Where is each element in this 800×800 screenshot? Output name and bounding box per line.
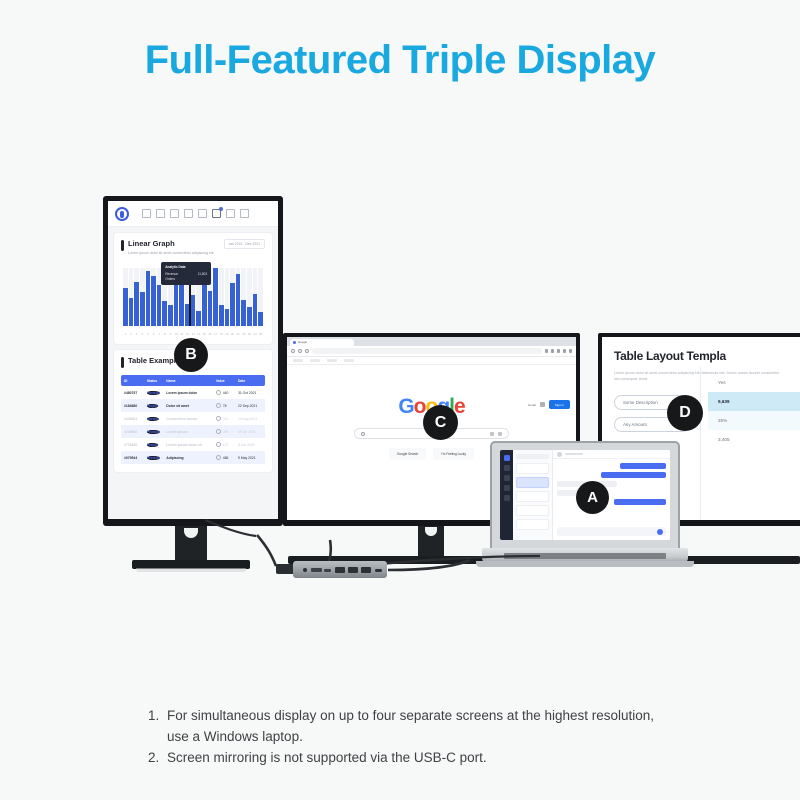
cell-value: 486: [213, 451, 235, 464]
cell-name: Adipiscing: [163, 451, 212, 464]
cell-value: 265: [213, 425, 235, 438]
example-table: IDStatusNameValueDate #480757ProductLore…: [121, 375, 265, 464]
link-icon[interactable]: [198, 209, 207, 218]
bar-column: [129, 268, 134, 326]
table-column-header: Date: [235, 375, 265, 386]
x-tick-label: 14: [196, 332, 201, 336]
feeling-lucky-button[interactable]: I'm Feeling Lucky: [433, 448, 474, 460]
x-tick-label: 21: [236, 332, 241, 336]
x-tick-label: 3: [134, 332, 139, 336]
bar-column: [219, 268, 224, 326]
table-column-header: Name: [163, 375, 212, 386]
template-column-divider: [700, 367, 701, 520]
dashboard-toolbar: [108, 201, 278, 227]
bar-column: [253, 268, 258, 326]
app-nav-rail: [500, 450, 513, 540]
toolbar-icon-group: [142, 209, 249, 218]
x-tick-label: 18: [219, 332, 224, 336]
extension-icon[interactable]: [551, 349, 555, 353]
browser-tab-bar: Google: [287, 337, 576, 346]
contact-name: [565, 453, 583, 456]
graph-card-title: Linear Graph: [128, 239, 215, 248]
message-list: [553, 459, 670, 527]
x-tick-label: 24: [253, 332, 258, 336]
bookmark-item[interactable]: [310, 359, 320, 362]
footnote-item: 1.For simultaneous display on up to four…: [148, 706, 678, 747]
profile-icon[interactable]: [563, 349, 567, 353]
template-title: Table Layout Templa: [614, 349, 800, 363]
cell-id: #480757: [121, 386, 144, 399]
x-tick-label: 12: [185, 332, 190, 336]
cell-value: 78: [213, 399, 235, 412]
date-range-selector[interactable]: Jan 2021 - Dec 2021: [224, 239, 265, 249]
files-icon[interactable]: [504, 485, 510, 491]
search-icon: [361, 432, 365, 436]
cell-id: #778450: [121, 438, 144, 451]
usb-a-port: [348, 567, 358, 573]
footnote-text: For simultaneous display on up to four s…: [167, 708, 654, 744]
x-tick-label: 16: [208, 332, 213, 336]
footnote-number: 2.: [148, 748, 159, 769]
callout-badge-b: B: [174, 338, 208, 372]
bar-column: [241, 268, 246, 326]
gmail-link[interactable]: Gmail: [528, 403, 536, 407]
google-header-actions: Gmail Sign in: [528, 400, 570, 409]
browser-tab[interactable]: Google: [290, 339, 354, 347]
micro-sd-slot: [324, 569, 331, 572]
card-accent-bar: [121, 357, 124, 368]
forward-icon[interactable]: [298, 349, 302, 353]
alert-icon[interactable]: [170, 209, 179, 218]
graph-card-subtitle: Lorem ipsum dolor sit amet consectetur a…: [128, 251, 215, 256]
message-bubble-outgoing: [601, 472, 666, 478]
search-input[interactable]: [516, 454, 549, 459]
reload-icon[interactable]: [305, 349, 309, 353]
message-bubble-outgoing: [620, 463, 666, 469]
cell-value: 127: [213, 438, 235, 451]
x-tick-label: 17: [213, 332, 218, 336]
x-tick-label: 20: [230, 332, 235, 336]
table-card-title: Table Example: [128, 356, 180, 365]
list-item[interactable]: [516, 463, 549, 474]
extension-icon[interactable]: [545, 349, 549, 353]
x-tick-label: 5: [146, 332, 151, 336]
cell-name: Dolor sit amet: [163, 399, 212, 412]
table-row[interactable]: #079544ProductAdipiscing4869 May 2021: [121, 451, 265, 464]
bookmark-item[interactable]: [344, 359, 354, 362]
conversation-list: [513, 450, 553, 540]
cell-value: 312: [213, 412, 235, 425]
template-table-row[interactable]: Yes: [708, 373, 800, 392]
microphone-icon[interactable]: [490, 432, 494, 436]
usb-a-port: [361, 567, 371, 573]
list-item[interactable]: [516, 477, 549, 488]
x-tick-label: 7: [157, 332, 162, 336]
usb-c-port: [375, 569, 382, 573]
message-input[interactable]: [557, 527, 666, 536]
cell-id: #184680: [121, 399, 144, 412]
cell-id: #339481: [121, 412, 144, 425]
settings-icon[interactable]: [504, 495, 510, 501]
table-row[interactable]: #339481ServiceConsectetur auctor31214 Au…: [121, 412, 265, 425]
bar-column: [146, 268, 151, 326]
bar-column: [225, 268, 230, 326]
template-table-row[interactable]: 25%: [708, 411, 800, 430]
cell-date: 31 Oct 2021: [235, 386, 265, 399]
callout-badge-a: A: [576, 481, 609, 514]
cell-status: Product: [144, 451, 163, 464]
usb-a-port: [335, 567, 345, 573]
settings-icon[interactable]: [184, 209, 193, 218]
bar-chart: 1234567891011121314151617181920212223242…: [121, 264, 265, 336]
table-body: #480757ProductLorem ipsum dolor44031 Oct…: [121, 386, 265, 464]
cell-status: Project: [144, 438, 163, 451]
cell-id: #216692: [121, 425, 144, 438]
bar-column: [213, 268, 218, 326]
laptop-foot: [476, 561, 694, 567]
cell-status: Project: [144, 399, 163, 412]
x-tick-label: 11: [179, 332, 184, 336]
cell-date: 9 May 2021: [235, 451, 265, 464]
bar-column: [258, 268, 263, 326]
browser-extension-icons: [545, 349, 573, 353]
shield-icon[interactable]: [142, 209, 151, 218]
send-icon[interactable]: [657, 529, 663, 535]
book-icon[interactable]: [226, 209, 235, 218]
apps-grid-icon[interactable]: [540, 402, 545, 407]
bar-chart-x-axis: 1234567891011121314151617181920212223242…: [123, 332, 263, 336]
card-header: Linear Graph Lorem ipsum dolor sit amet …: [121, 239, 265, 256]
x-tick-label: 23: [247, 332, 252, 336]
bar-column: [134, 268, 139, 326]
x-tick-label: 1: [123, 332, 128, 336]
cell-date: 8 Jun 2021: [235, 438, 265, 451]
monitor-b-stand-neck: [175, 526, 207, 564]
cell-id: #079544: [121, 451, 144, 464]
monitor-c-stand-neck: [418, 526, 444, 560]
x-tick-label: 13: [191, 332, 196, 336]
sign-in-button[interactable]: Sign in: [549, 400, 570, 409]
table-row[interactable]: #480757ProductLorem ipsum dolor44031 Oct…: [121, 386, 265, 399]
usb-c-docking-hub: [293, 561, 387, 578]
table-header-row: IDStatusNameValueDate: [121, 375, 265, 386]
list-item[interactable]: [516, 519, 549, 530]
bar-column: [230, 268, 235, 326]
camera-icon[interactable]: [498, 432, 502, 436]
template-table-row[interactable]: 9,639: [708, 392, 800, 411]
tooltip-row: Orders: [165, 277, 207, 282]
bar-column: [236, 268, 241, 326]
sd-card-slot: [311, 568, 322, 572]
avatar: [557, 452, 562, 457]
footnote-text: Screen mirroring is not supported via th…: [167, 750, 487, 765]
cell-status: Product: [144, 386, 163, 399]
list-item[interactable]: [516, 505, 549, 516]
table-column-header: ID: [121, 375, 144, 386]
cell-name: Lorem ipsum dolor sit: [163, 438, 212, 451]
bookmark-item[interactable]: [327, 359, 337, 362]
callout-badge-d: D: [667, 395, 703, 431]
bookmarks-bar: [287, 357, 576, 365]
logo-letter: G: [398, 395, 413, 418]
audio-jack-port: [303, 568, 307, 572]
cell-status: Service: [144, 412, 163, 425]
laptop-keyboard: [504, 553, 666, 559]
chart-tooltip: Analytic Data Revenue11,802 Orders: [161, 262, 211, 284]
x-tick-label: 22: [241, 332, 246, 336]
x-tick-label: 25: [258, 332, 263, 336]
cell-status: Product: [144, 425, 163, 438]
cell-value: 440: [213, 386, 235, 399]
list-item[interactable]: [516, 491, 549, 502]
callout-badge-c: C: [423, 405, 458, 440]
browser-address-bar: [287, 346, 576, 357]
table-column-header: Value: [213, 375, 235, 386]
bar-column: [151, 268, 156, 326]
google-search-button[interactable]: Google Search: [389, 448, 426, 460]
chart-icon[interactable]: [212, 209, 221, 218]
table-column-header: Status: [144, 375, 163, 386]
message-bubble-outgoing: [614, 499, 666, 505]
product-scene: Linear Graph Lorem ipsum dolor sit amet …: [0, 0, 800, 690]
card-accent-bar: [121, 240, 124, 251]
menu-icon[interactable]: [569, 349, 573, 353]
x-tick-label: 6: [151, 332, 156, 336]
home-icon[interactable]: [504, 455, 510, 461]
cell-date: 09 Jul 2021: [235, 425, 265, 438]
dashboard-logo-icon: [115, 207, 129, 221]
monitor-b-stand-base: [132, 560, 250, 569]
x-tick-label: 10: [174, 332, 179, 336]
cell-name: Lorem ipsum dolor: [163, 386, 212, 399]
cell-name: Lorem ipsum: [163, 425, 212, 438]
conversation-header: [553, 450, 670, 459]
table-row[interactable]: #184680ProjectDolor sit amet7822 Sep 202…: [121, 399, 265, 412]
bar-column: [247, 268, 252, 326]
x-tick-label: 8: [162, 332, 167, 336]
extension-icon[interactable]: [557, 349, 561, 353]
x-tick-label: 4: [140, 332, 145, 336]
x-tick-label: 15: [202, 332, 207, 336]
table-row[interactable]: #778450ProjectLorem ipsum dolor sit1278 …: [121, 438, 265, 451]
x-tick-label: 9: [168, 332, 173, 336]
chat-icon[interactable]: [504, 465, 510, 471]
x-tick-label: 19: [225, 332, 230, 336]
x-tick-label: 2: [129, 332, 134, 336]
table-row[interactable]: #216692ProductLorem ipsum26509 Jul 2021: [121, 425, 265, 438]
favicon-icon: [293, 341, 296, 344]
cell-date: 22 Sep 2021: [235, 399, 265, 412]
bar-column: [140, 268, 145, 326]
browser-tab-label: Google: [298, 340, 307, 344]
url-input[interactable]: [312, 348, 542, 354]
footnote-item: 2.Screen mirroring is not supported via …: [148, 748, 678, 769]
cell-name: Consectetur auctor: [163, 412, 212, 425]
footnote-number: 1.: [148, 706, 159, 727]
grid-icon[interactable]: [240, 209, 249, 218]
tooltip-header: Analytic Data: [165, 265, 207, 270]
bookmark-item[interactable]: [293, 359, 303, 362]
template-table-row[interactable]: 3,405: [708, 430, 800, 449]
tooltip-label: Orders: [165, 277, 175, 282]
people-icon[interactable]: [504, 475, 510, 481]
footnotes: 1.For simultaneous display on up to four…: [148, 706, 678, 770]
linear-graph-card: Linear Graph Lorem ipsum dolor sit amet …: [114, 233, 272, 344]
back-icon[interactable]: [291, 349, 295, 353]
star-icon[interactable]: [156, 209, 165, 218]
template-table: Yes9,63925%3,405: [708, 373, 800, 449]
cell-date: 14 Aug 2021: [235, 412, 265, 425]
bar-column: [123, 268, 128, 326]
conversation-pane: [553, 450, 670, 540]
